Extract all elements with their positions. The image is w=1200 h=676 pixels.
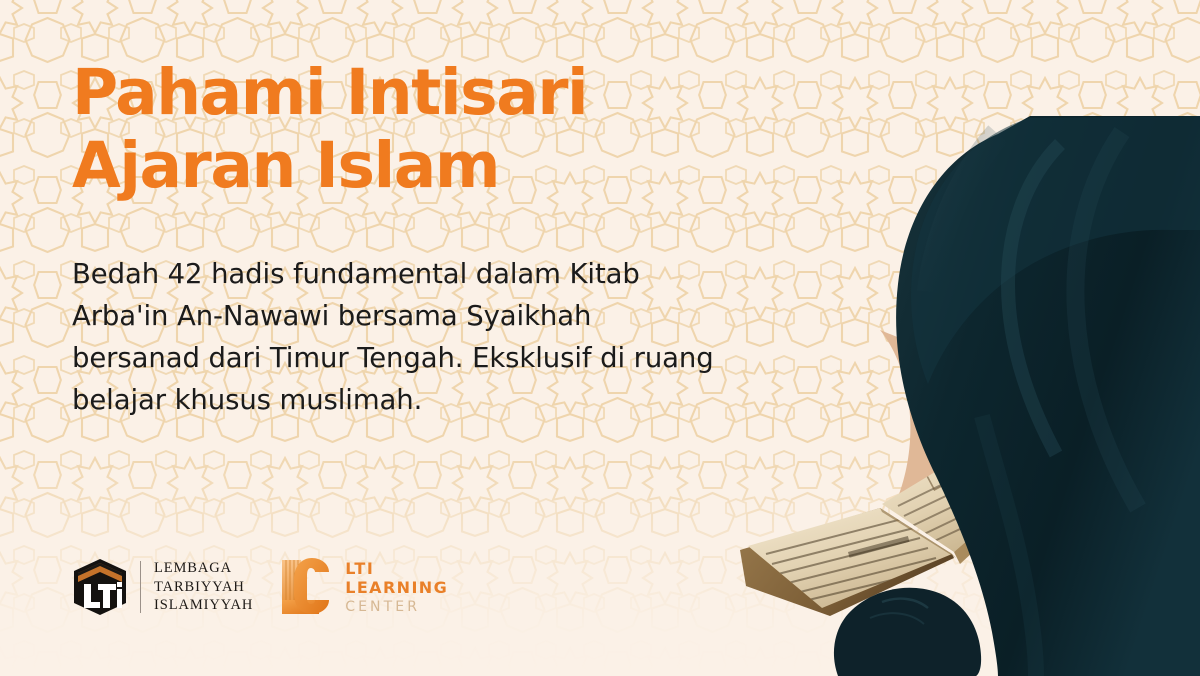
book-gutter [880,508,956,558]
promotional-banner: Pahami Intisari Ajaran Islam Bedah 42 ha… [0,0,1200,676]
gloved-hand [834,588,981,676]
lc-wordmark-line-3: CENTER [345,600,448,614]
logo-bar: LEMBAGA TARBIYYAH ISLAMIYYAH [72,556,448,618]
lc-wordmark-line-1: LTI [345,561,448,577]
lc-wordmark-line-2: LEARNING [345,580,448,596]
kaaba-hexagon-icon [72,558,128,616]
khimar-head-shading [911,116,1200,384]
khimar-fold-1 [1008,144,1060,454]
khimar-highlight [930,134,998,292]
lti-wordmark: LEMBAGA TARBIYYAH ISLAMIYYAH [154,559,253,615]
text-content: Pahami Intisari Ajaran Islam Bedah 42 ha… [72,0,832,421]
lti-learning-center-logo-lockup[interactable]: LTI LEARNING CENTER [279,556,448,618]
book-text-right [898,450,1018,544]
book-page-edge-left [740,508,954,616]
book-page-right [882,446,1032,552]
page-title: Pahami Intisari Ajaran Islam [72,56,832,202]
lc-monogram-icon [279,556,333,618]
open-quran-book [740,446,1036,616]
khimar-fold-2 [1075,132,1138,508]
book-text-left [766,518,942,602]
lti-logo-lockup[interactable]: LEMBAGA TARBIYYAH ISLAMIYYAH [72,558,253,616]
book-page-edge-right [954,484,1036,564]
neck-skin [880,330,952,512]
description-paragraph: Bedah 42 hadis fundamental dalam Kitab A… [72,254,792,421]
black-khimar [896,116,1200,676]
lc-wordmark: LTI LEARNING CENTER [345,561,448,614]
logo-divider [140,561,141,613]
book-page-left [748,508,952,608]
khimar-fold-3 [982,416,1036,676]
